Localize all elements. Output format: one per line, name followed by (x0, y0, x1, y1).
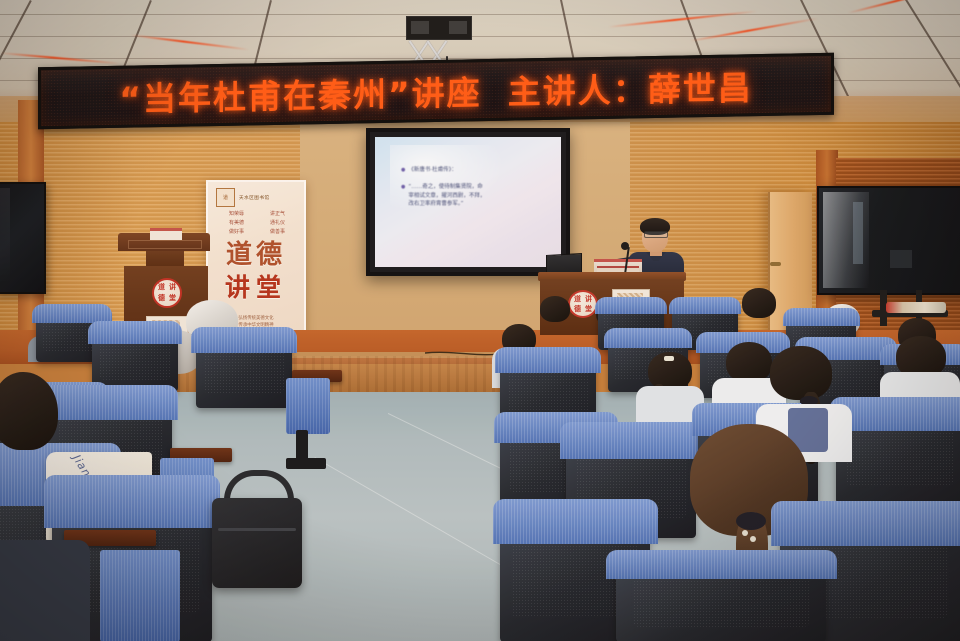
wall-tv-right (817, 186, 960, 295)
seat-side-panel (286, 378, 330, 434)
led-banner-title: “当年杜甫在秦州”讲座 (119, 66, 481, 121)
banner-title-line-1: 道德 (208, 234, 304, 271)
microphone-icon (621, 242, 629, 250)
slide-line-4: 改右卫率府胄曹参军。” (408, 201, 463, 207)
lecture-hall-photo: “当年杜甫在秦州”讲座 主讲人：薛世昌 ● 《新唐书·杜甫传》： ● “……奇之… (0, 0, 960, 641)
hair-clip-icon (664, 356, 674, 361)
eyeglasses-icon (644, 231, 668, 238)
podium-paper (150, 228, 182, 240)
hair-bead-icon (742, 530, 748, 536)
slide-content: ● 《新唐书·杜甫传》： ● “……奇之，使待制集贤院，命 宰相试文章，擢河西尉… (401, 166, 548, 218)
attendee-body (0, 540, 90, 641)
banner-verse-item: 通礼仪 (261, 219, 294, 226)
shelf-object (886, 302, 946, 313)
attendee-head (742, 288, 776, 318)
slide-bullet-icon: ● (401, 166, 405, 175)
banner-verse-item: 知荣辱 (220, 210, 253, 217)
auditorium-seat[interactable] (92, 326, 178, 392)
wall-tv-left (0, 182, 46, 294)
table-emblem: 道 讲 德 堂 (568, 290, 598, 318)
seat-foot (286, 458, 326, 469)
tv-control-box (890, 250, 912, 268)
seat-side-panel (100, 550, 180, 641)
banner-title-line-2: 讲堂 (208, 268, 304, 304)
banner-verse-list: 知荣辱 讲正气 有美德 通礼仪 做好事 做善事 (220, 210, 294, 235)
auditorium-seat[interactable] (836, 404, 960, 504)
projection-screen: ● 《新唐书·杜甫传》： ● “……奇之，使待制集贤院，命 宰相试文章，擢河西尉… (366, 128, 570, 276)
banner-verse-item: 有美德 (220, 219, 253, 226)
banner-seal-icon: 道 (216, 188, 235, 207)
door-handle-icon[interactable] (770, 262, 781, 266)
auditorium-seat[interactable] (196, 332, 292, 408)
slide-bullet-icon-2: ● (401, 183, 405, 209)
bag-zipper (218, 528, 296, 531)
laptop-bag (212, 498, 302, 588)
hair-bead-icon (750, 536, 756, 542)
banner-org-name: 天水区图书馆 (239, 195, 270, 201)
auditorium-seat[interactable] (616, 556, 826, 641)
attendee-head (770, 346, 832, 400)
slide-line-1: 《新唐书·杜甫传》： (408, 166, 457, 175)
banner-verse-item: 讲正气 (261, 210, 294, 217)
slide-line-3: 宰相试文章，擢河西尉，不拜， (408, 193, 485, 199)
led-banner-presenter: 主讲人：薛世昌 (508, 61, 753, 113)
hair-tie-icon (736, 512, 766, 530)
attendee-head (540, 296, 570, 322)
slide-line-2: “……奇之，使待制集贤院，命 (408, 184, 482, 190)
podium-emblem: 道 讲 德 堂 (152, 278, 182, 308)
attendee-head (726, 342, 772, 382)
